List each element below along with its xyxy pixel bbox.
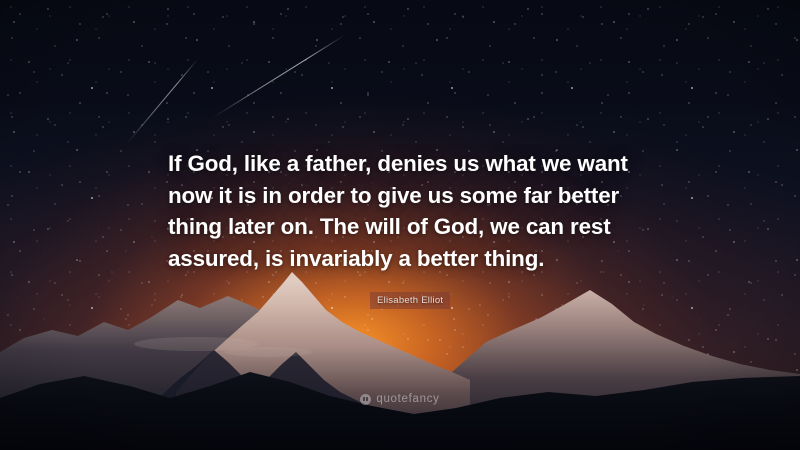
quote-wallpaper-canvas: If God, like a father, denies us what we… [0, 0, 800, 450]
cloud-wisp [224, 347, 312, 357]
author-name: Elisabeth Elliot [370, 292, 450, 309]
quote-block: If God, like a father, denies us what we… [168, 148, 640, 274]
author-attribution: Elisabeth Elliot [370, 290, 450, 309]
quote-text: If God, like a father, denies us what we… [168, 148, 640, 274]
